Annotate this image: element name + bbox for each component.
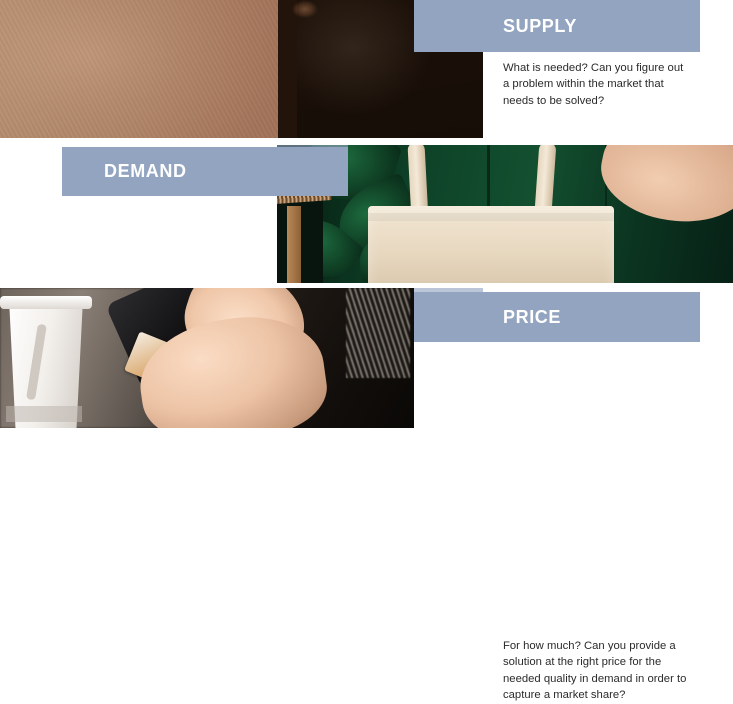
price-heading: PRICE xyxy=(503,307,561,328)
supply-photo xyxy=(0,0,483,138)
coffee-cup-sleeve xyxy=(6,406,82,422)
coffee-cup-lid xyxy=(0,296,92,309)
demand-heading: DEMAND xyxy=(104,161,187,182)
infographic-slide: SUPPLY What is needed? Can you figure ou… xyxy=(0,0,733,428)
supply-title-bar: SUPPLY xyxy=(414,0,700,52)
section-supply: SUPPLY What is needed? Can you figure ou… xyxy=(0,0,733,138)
section-price: PRICE For how much? Can you provide a so… xyxy=(0,288,733,428)
supply-heading: SUPPLY xyxy=(503,16,577,37)
tote-body xyxy=(368,206,614,283)
demand-title-bar: DEMAND xyxy=(62,147,348,196)
section-demand: DEMAND Who needs it? Can you figure out … xyxy=(0,145,733,283)
tote-bag xyxy=(368,145,614,283)
price-photo xyxy=(0,288,414,428)
street-scene xyxy=(0,288,414,428)
price-title-bar: PRICE xyxy=(414,292,700,342)
brown-backdrop xyxy=(0,0,297,138)
price-body-text: For how much? Can you provide a solution… xyxy=(503,638,699,704)
supply-body-text: What is needed? Can you figure out a pro… xyxy=(503,60,685,109)
wood-frame xyxy=(287,206,301,283)
coat-fur-trim xyxy=(346,288,410,378)
